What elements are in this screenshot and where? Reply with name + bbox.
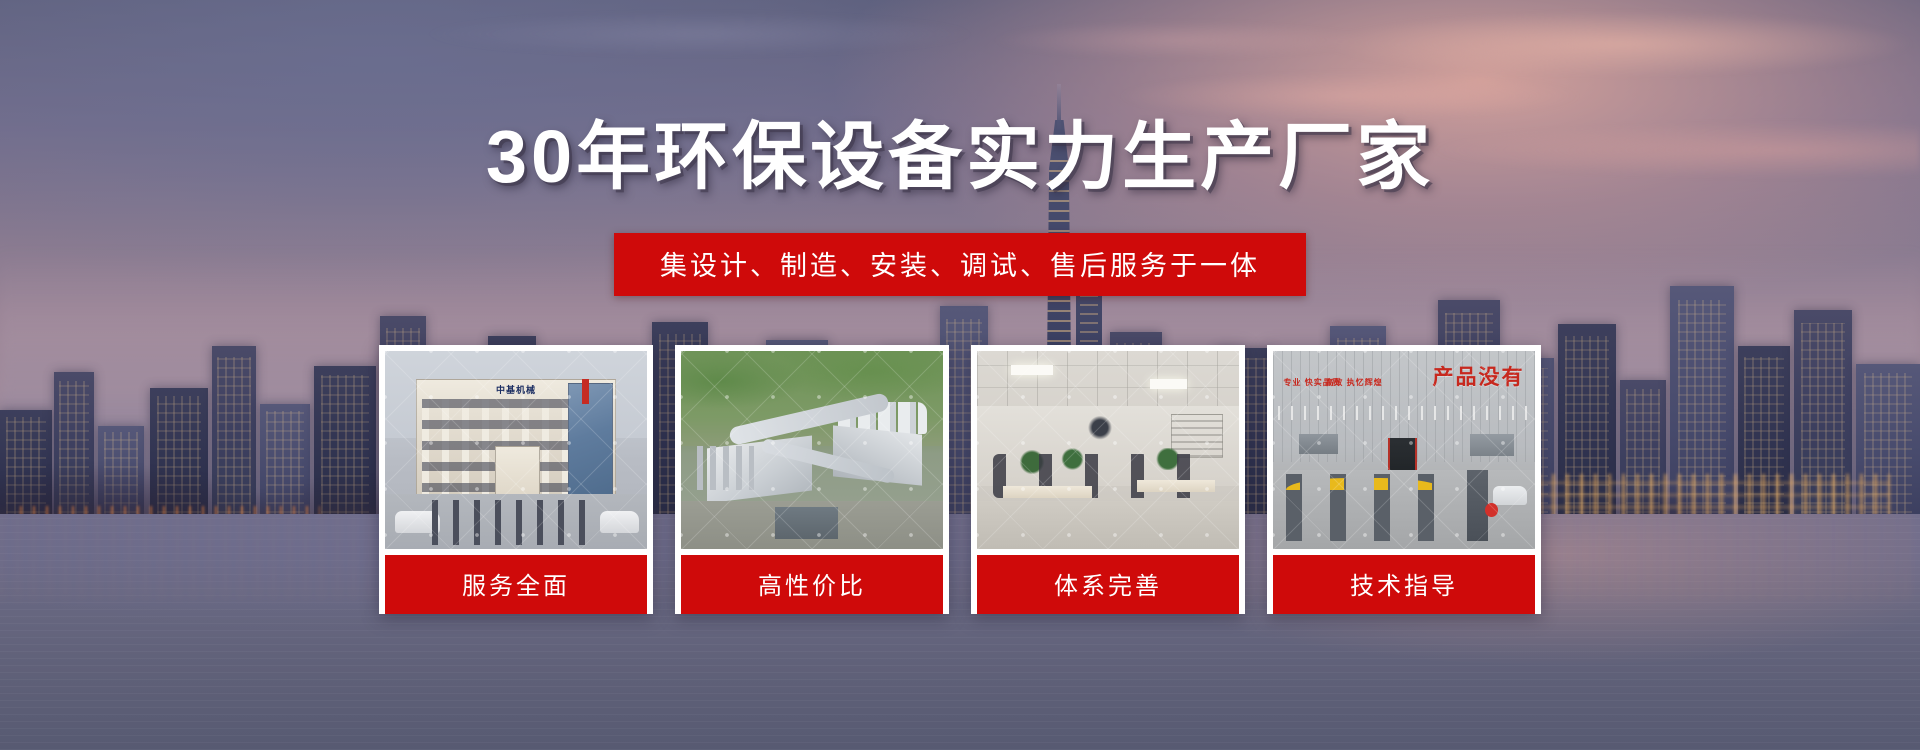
card-photo-signage: 中基机械 xyxy=(496,383,536,396)
card-label: 体系完善 xyxy=(977,555,1239,614)
card-label: 高性价比 xyxy=(681,555,943,614)
card-photo-signage-small-right: 高效 执忆辉煌 xyxy=(1325,377,1382,388)
card-label: 技术指导 xyxy=(1273,555,1535,614)
card-photo-factory-workers: 产品没有 专业 快实品质 高效 执忆辉煌 xyxy=(1273,351,1535,549)
card-photo-headquarters: 中基机械 xyxy=(385,351,647,549)
feature-card[interactable]: 中基机械 服务全面 xyxy=(379,345,653,614)
card-label: 服务全面 xyxy=(385,555,647,614)
card-photo-signage: 产品没有 xyxy=(1433,361,1525,391)
card-photo-office-interior xyxy=(977,351,1239,549)
feature-card-list: 中基机械 服务全面 xyxy=(0,345,1920,614)
banner-content: 30年环保设备实力生产厂家 集设计、制造、安装、调试、售后服务于一体 中基机械 xyxy=(0,0,1920,750)
feature-card[interactable]: 高性价比 xyxy=(675,345,949,614)
feature-card[interactable]: 体系完善 xyxy=(971,345,1245,614)
banner-subtitle-row: 集设计、制造、安装、调试、售后服务于一体 xyxy=(0,233,1920,296)
hero-banner: 30年环保设备实力生产厂家 集设计、制造、安装、调试、售后服务于一体 中基机械 xyxy=(0,0,1920,750)
banner-subtitle-ribbon: 集设计、制造、安装、调试、售后服务于一体 xyxy=(614,233,1306,296)
feature-card[interactable]: 产品没有 专业 快实品质 高效 执忆辉煌 技术指导 xyxy=(1267,345,1541,614)
card-photo-aerial-plant xyxy=(681,351,943,549)
banner-headline: 30年环保设备实力生产厂家 xyxy=(0,118,1920,196)
